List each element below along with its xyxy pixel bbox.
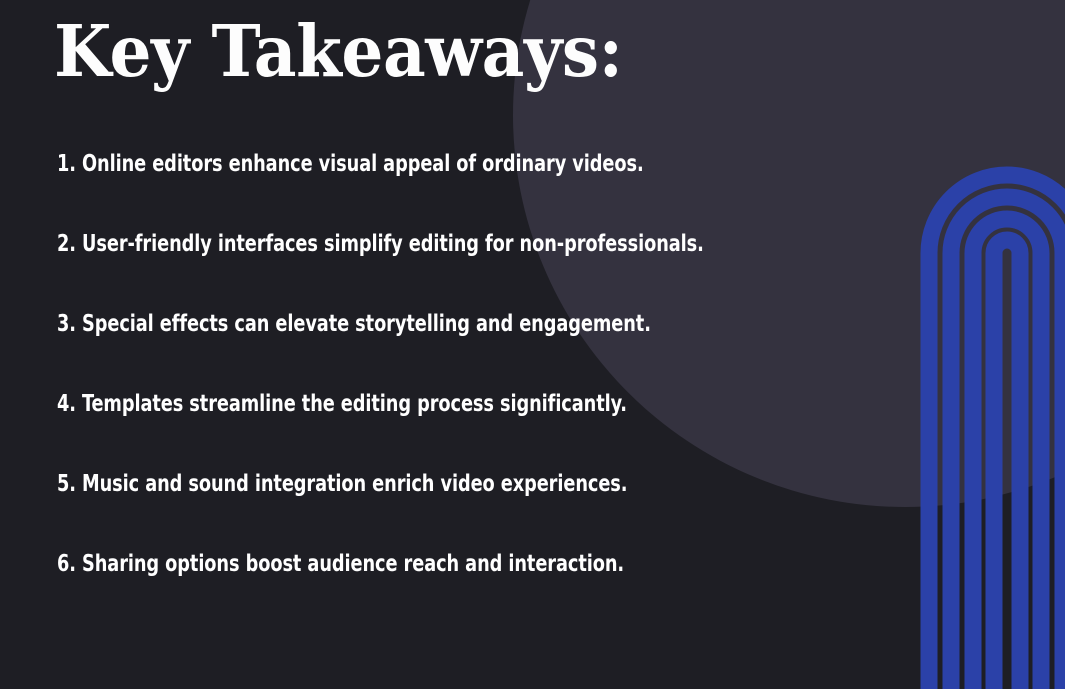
list-item: 6. Sharing options boost audience reach … [57,552,830,632]
list-item: 1. Online editors enhance visual appeal … [57,152,830,232]
slide-canvas: Key Takeaways: 1. Online editors enhance… [0,0,1065,689]
page-title: Key Takeaways: [54,12,622,90]
slide-content: Key Takeaways: 1. Online editors enhance… [0,0,1065,689]
list-item: 5. Music and sound integration enrich vi… [57,472,830,552]
list-item: 2. User-friendly interfaces simplify edi… [57,232,830,312]
list-item: 3. Special effects can elevate storytell… [57,312,830,392]
takeaways-list: 1. Online editors enhance visual appeal … [57,152,977,632]
list-item: 4. Templates streamline the editing proc… [57,392,830,472]
